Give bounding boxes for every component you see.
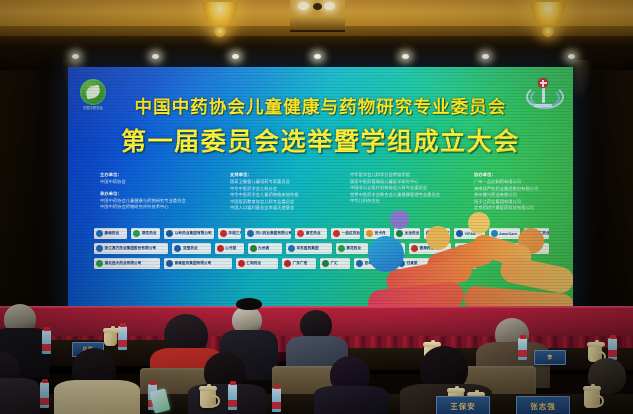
audience-body [314,386,388,414]
ceiling-projector [290,0,345,32]
nameplate: 王保安 [436,396,490,414]
left-wall [0,66,70,311]
nameplate: 张志强 [516,396,570,414]
audience-head [236,298,262,310]
nameplate-text: 李 [547,354,553,361]
downlight [402,54,409,59]
audience-body [0,378,40,414]
downlight [232,54,239,59]
water-bottle [608,338,617,360]
chandelier-right [528,0,568,36]
nameplate-text: 张志强 [530,401,556,412]
right-wall [572,66,633,311]
water-bottle [42,330,51,354]
water-bottle [228,384,237,410]
downlight [568,54,575,59]
nameplate-text: 王保安 [450,401,476,412]
downlight [314,54,321,59]
downlight [152,54,159,59]
led-screen: 中国中药协会 中国中药协会儿童健康与药物研究专业委员会 第一届委员会选举暨学组成… [68,67,573,310]
water-bottle [272,388,281,412]
audience-area: 乌融 李 王保安 [0,300,633,414]
water-bottle [518,338,527,360]
audience-body [54,380,140,414]
downlight [72,54,79,59]
tea-cup [584,390,600,408]
conference-hall-photo: 中国中药协会 中国中药协会儿童健康与药物研究专业委员会 第一届委员会选举暨学组成… [0,0,633,414]
water-bottle [40,382,49,408]
nameplate: 李 [534,350,566,365]
tea-cup [104,332,117,346]
downlight [482,54,489,59]
tea-cup [200,390,216,408]
chandelier-left [200,0,240,36]
